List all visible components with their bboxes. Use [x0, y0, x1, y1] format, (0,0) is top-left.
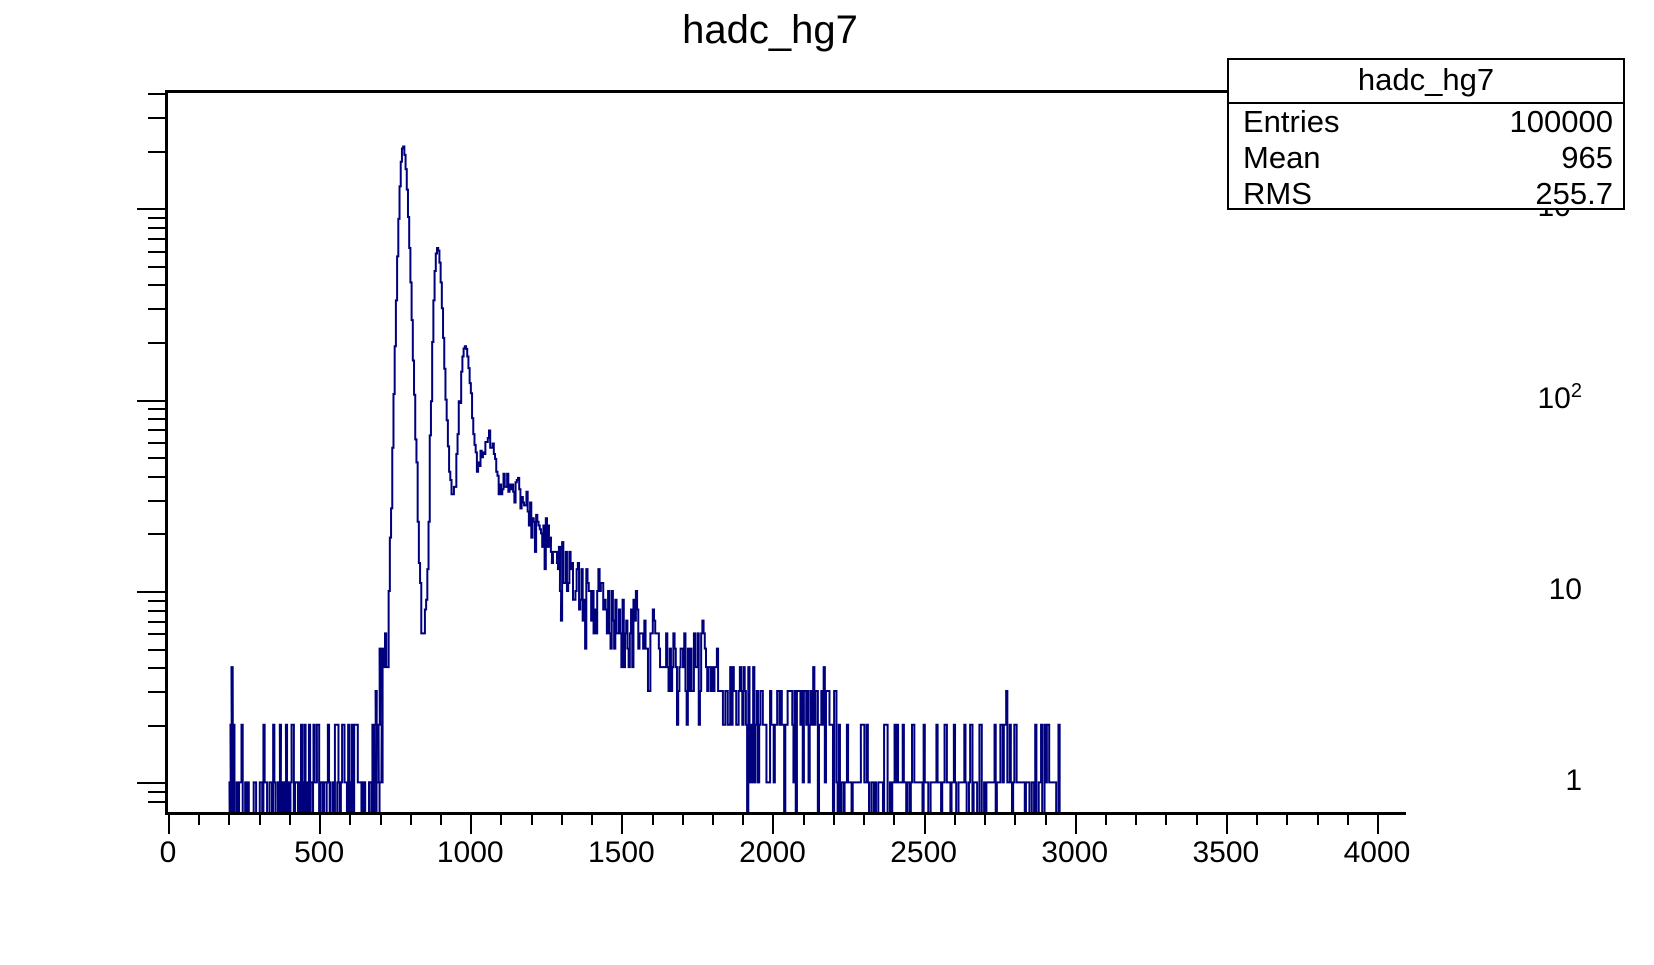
x-tick-major	[319, 815, 321, 834]
y-tick-minor	[148, 691, 165, 693]
x-tick-major	[1226, 815, 1228, 834]
y-tick-minor	[148, 266, 165, 268]
x-tick-label: 3500	[1166, 836, 1286, 870]
y-tick-minor	[148, 610, 165, 612]
y-tick-minor	[148, 238, 165, 240]
x-tick-minor	[652, 815, 654, 825]
x-tick-minor	[1135, 815, 1137, 825]
stats-rows: Entries100000Mean965RMS255.7	[1229, 104, 1623, 212]
x-tick-minor	[228, 815, 230, 825]
stats-box-title: hadc_hg7	[1229, 60, 1623, 104]
x-tick-label: 0	[108, 836, 228, 870]
x-tick-label: 1000	[410, 836, 530, 870]
x-tick-minor	[380, 815, 382, 825]
x-tick-major	[1075, 815, 1077, 834]
x-tick-minor	[893, 815, 895, 825]
y-tick-minor	[148, 308, 165, 310]
x-tick-minor	[1256, 815, 1258, 825]
stats-row-label: Mean	[1243, 140, 1321, 176]
x-tick-major	[772, 815, 774, 834]
y-tick-minor	[148, 500, 165, 502]
x-tick-minor	[1347, 815, 1349, 825]
y-tick-label: 102	[1538, 384, 1583, 414]
x-tick-minor	[561, 815, 563, 825]
x-tick-label: 3000	[1015, 836, 1135, 870]
y-tick-minor	[148, 621, 165, 623]
x-tick-minor	[259, 815, 261, 825]
x-tick-major	[168, 815, 170, 834]
x-tick-label: 2000	[712, 836, 832, 870]
y-tick-minor	[148, 217, 165, 219]
y-tick-major	[137, 591, 165, 593]
x-tick-minor	[1317, 815, 1319, 825]
y-tick-label: 1	[1565, 766, 1582, 796]
x-tick-minor	[500, 815, 502, 825]
y-tick-minor	[148, 418, 165, 420]
y-tick-minor	[148, 633, 165, 635]
histogram-curve	[168, 93, 1406, 812]
x-tick-major	[621, 815, 623, 834]
x-tick-major	[1377, 815, 1379, 834]
x-tick-minor	[289, 815, 291, 825]
x-tick-minor	[712, 815, 714, 825]
y-tick-minor	[148, 251, 165, 253]
x-tick-minor	[198, 815, 200, 825]
x-tick-minor	[1196, 815, 1198, 825]
root-canvas: hadc_hg7 110102103 050010001500200025003…	[0, 0, 1654, 965]
x-tick-minor	[1045, 815, 1047, 825]
x-tick-minor	[682, 815, 684, 825]
x-tick-minor	[984, 815, 986, 825]
y-tick-minor	[148, 725, 165, 727]
x-tick-minor	[803, 815, 805, 825]
y-tick-major	[137, 208, 165, 210]
stats-row: Mean965	[1229, 140, 1623, 176]
x-tick-minor	[833, 815, 835, 825]
stats-row-value: 255.7	[1535, 176, 1613, 212]
stats-box[interactable]: hadc_hg7 Entries100000Mean965RMS255.7	[1227, 58, 1625, 210]
stats-row: Entries100000	[1229, 104, 1623, 140]
x-tick-minor	[1105, 815, 1107, 825]
y-tick-minor	[148, 442, 165, 444]
y-tick-minor	[148, 667, 165, 669]
x-axis-ticks	[165, 815, 1406, 837]
x-tick-minor	[1165, 815, 1167, 825]
x-tick-minor	[863, 815, 865, 825]
stats-row-value: 965	[1561, 140, 1613, 176]
x-tick-minor	[440, 815, 442, 825]
x-tick-label: 2500	[864, 836, 984, 870]
x-tick-label: 4000	[1317, 836, 1437, 870]
x-tick-minor	[742, 815, 744, 825]
y-tick-minor	[148, 151, 165, 153]
x-tick-label: 1500	[561, 836, 681, 870]
x-tick-minor	[1286, 815, 1288, 825]
x-tick-minor	[1014, 815, 1016, 825]
histogram-line	[168, 147, 1196, 812]
x-tick-minor	[410, 815, 412, 825]
y-tick-minor	[148, 429, 165, 431]
y-tick-minor	[148, 284, 165, 286]
stats-row-value: 100000	[1510, 104, 1613, 140]
x-tick-label: 500	[259, 836, 379, 870]
y-tick-label: 10	[1549, 575, 1582, 605]
y-tick-minor	[148, 476, 165, 478]
y-tick-major	[137, 400, 165, 402]
x-tick-minor	[349, 815, 351, 825]
x-tick-major	[470, 815, 472, 834]
y-tick-minor	[148, 533, 165, 535]
y-tick-minor	[148, 227, 165, 229]
stats-row-label: Entries	[1243, 104, 1339, 140]
x-tick-minor	[954, 815, 956, 825]
y-tick-major	[137, 782, 165, 784]
y-tick-minor	[148, 649, 165, 651]
stats-row-label: RMS	[1243, 176, 1312, 212]
stats-row: RMS255.7	[1229, 176, 1623, 212]
y-tick-minor	[148, 801, 165, 803]
y-tick-minor	[148, 791, 165, 793]
y-tick-minor	[148, 457, 165, 459]
y-tick-minor	[148, 117, 165, 119]
y-tick-minor	[148, 342, 165, 344]
x-tick-major	[924, 815, 926, 834]
histogram-plot-area	[168, 93, 1406, 812]
y-tick-minor	[148, 600, 165, 602]
y-tick-minor	[148, 93, 165, 95]
x-tick-minor	[531, 815, 533, 825]
y-axis-ticks	[100, 90, 165, 812]
y-tick-minor	[148, 408, 165, 410]
page-title: hadc_hg7	[0, 4, 1540, 56]
x-tick-minor	[591, 815, 593, 825]
